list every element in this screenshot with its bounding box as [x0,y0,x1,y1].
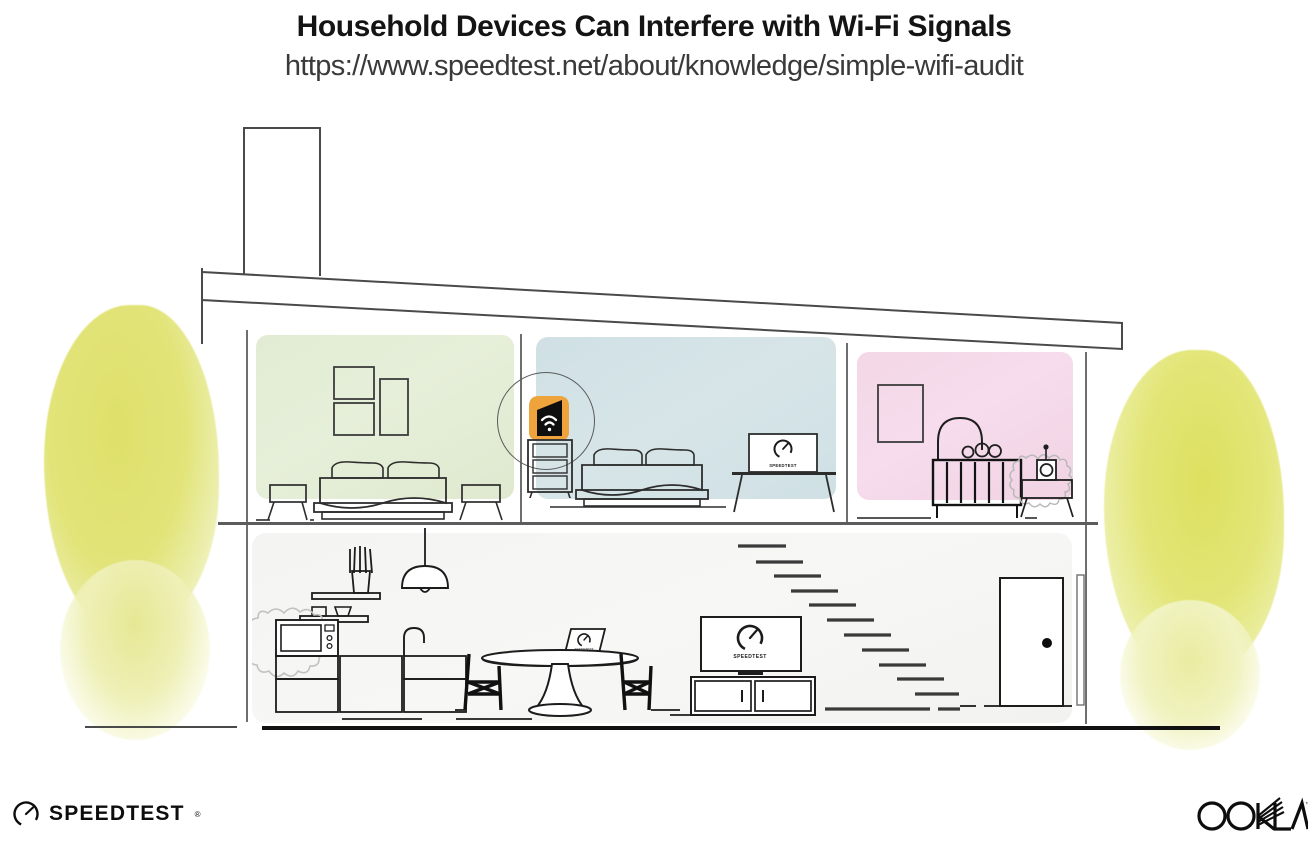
exterior-wall-left [246,330,248,722]
room-bedroom-green [256,335,514,499]
chimney [243,127,321,276]
illustration-canvas: Household Devices Can Interfere with Wi-… [0,0,1308,861]
ookla-wordmark-graphic: ™ [1196,797,1308,835]
roof-left-edge [201,268,203,344]
exterior-wall-right [1085,352,1087,724]
sidelight-window [1077,575,1084,705]
interior-wall-2 [846,343,848,524]
speedtest-trademark: ® [195,810,201,819]
floor-divider-line [218,522,1098,525]
header: Household Devices Can Interfere with Wi-… [0,0,1308,83]
ground-line [262,726,1220,730]
source-url: https://www.speedtest.net/about/knowledg… [0,50,1308,83]
foliage-left-lower [60,560,210,740]
room-ground-floor [252,533,1072,723]
router-highlight-circle [497,372,595,470]
speedtest-gauge-icon [12,800,40,828]
room-nursery-pink [857,352,1073,500]
ookla-logo: ™ [1196,797,1308,840]
speedtest-logo: SPEEDTEST ® [12,800,201,828]
speedtest-wordmark: SPEEDTEST [49,802,185,826]
page-title: Household Devices Can Interfere with Wi-… [0,10,1308,44]
ground-line-left [85,726,237,728]
